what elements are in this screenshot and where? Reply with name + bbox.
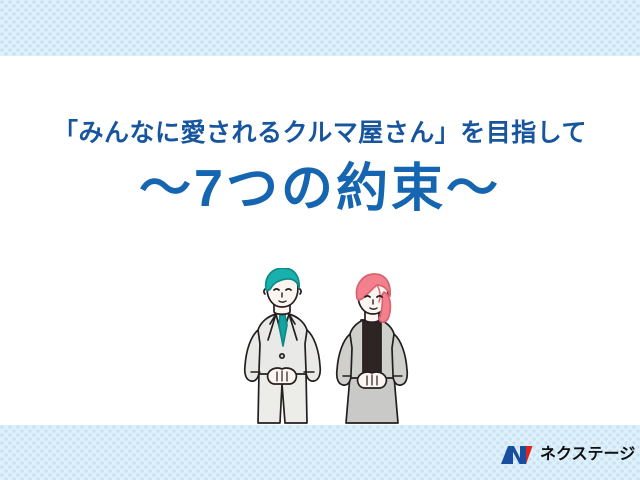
headline-line-1: 「みんなに愛されるクルマ屋さん」を目指して <box>0 118 640 148</box>
nextage-logo: ネクステージ <box>500 441 628 469</box>
nextage-n-mark-icon <box>500 443 534 467</box>
woman-figure <box>337 274 408 423</box>
top-dot-band <box>0 0 640 56</box>
headline-block: 「みんなに愛されるクルマ屋さん」を目指して ～7つの約束～ <box>0 118 640 217</box>
promo-banner: 「みんなに愛されるクルマ屋さん」を目指して ～7つの約束～ <box>0 0 640 480</box>
staff-illustration <box>236 268 416 428</box>
staff-illustration-svg <box>236 268 416 428</box>
man-figure <box>245 268 321 423</box>
nextage-logo-text: ネクステージ <box>540 447 635 463</box>
headline-line-2: ～7つの約束～ <box>0 162 640 217</box>
